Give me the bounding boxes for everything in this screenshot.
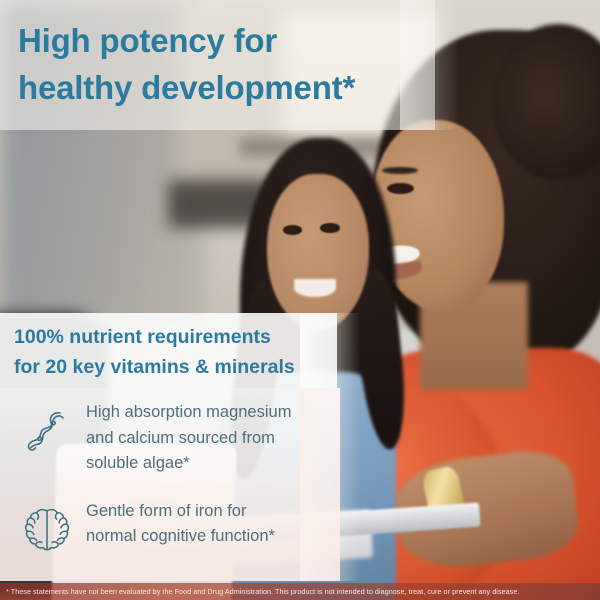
- page-title: High potency for healthy development*: [18, 18, 438, 112]
- disclaimer-text: * These statements have not been evaluat…: [0, 588, 519, 595]
- list-item: Gentle form of iron for normal cognitive…: [0, 495, 345, 559]
- bullet-1-line-3: soluble algae*: [86, 451, 291, 477]
- list-item-label: Gentle form of iron for normal cognitive…: [76, 495, 275, 550]
- subheading: 100% nutrient requirements for 20 key vi…: [14, 322, 344, 383]
- photo-child-eye-right: [320, 223, 339, 233]
- subhead-line-1: 100% nutrient requirements: [14, 322, 344, 352]
- bullet-1-line-2: and calcium sourced from: [86, 426, 291, 452]
- subhead-line-2: for 20 key vitamins & minerals: [14, 352, 344, 382]
- bone-joint-icon: [18, 402, 76, 460]
- photo-child-smile: [294, 279, 336, 297]
- photo-mother-eye: [387, 183, 414, 194]
- benefits-list: High absorption magnesium and calcium so…: [0, 396, 345, 577]
- photo-child-eye-left: [283, 225, 302, 235]
- photo-child-face: [267, 174, 369, 330]
- bullet-2-line-2: normal cognitive function*: [86, 524, 275, 550]
- headline-line-1: High potency for: [18, 18, 438, 65]
- bullet-2-line-1: Gentle form of iron for: [86, 499, 275, 525]
- list-item-label: High absorption magnesium and calcium so…: [76, 396, 291, 477]
- bullet-1-line-1: High absorption magnesium: [86, 400, 291, 426]
- marketing-banner: High potency for healthy development* 10…: [0, 0, 600, 600]
- photo-mother-brow: [382, 167, 418, 174]
- headline-line-2: healthy development*: [18, 65, 438, 112]
- disclaimer-bar: * These statements have not been evaluat…: [0, 583, 600, 600]
- brain-icon: [18, 501, 76, 559]
- list-item: High absorption magnesium and calcium so…: [0, 396, 345, 477]
